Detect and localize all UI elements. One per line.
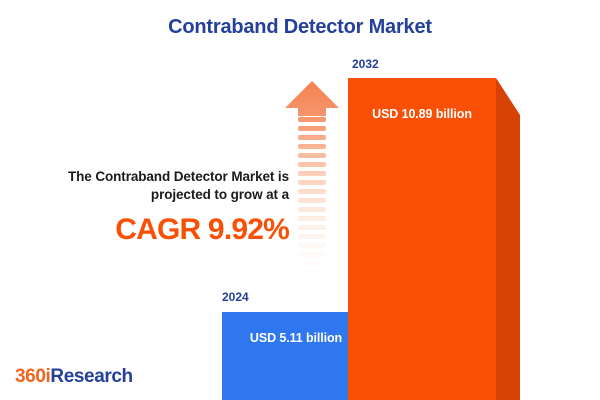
logo-mark: 360i [15, 366, 50, 387]
bar-2032-side-face [496, 78, 520, 400]
bar-2032-year-label: 2032 [352, 57, 379, 71]
page-title: Contraband Detector Market [0, 16, 600, 39]
statement-line-1: The Contraband Detector Market is [14, 168, 289, 186]
up-arrow-icon [284, 80, 340, 292]
brand-logo[interactable]: 360iResearch [15, 366, 133, 388]
cagr-value: CAGR 9.92% [14, 213, 289, 247]
infographic-canvas: Contraband Detector Market The Contraban… [0, 0, 600, 400]
statement-block: The Contraband Detector Market is projec… [14, 168, 289, 247]
logo-name: Research [50, 366, 132, 387]
bar-2032-value-label: USD 10.89 billion [348, 78, 496, 150]
bar-2024-year-label: 2024 [222, 290, 249, 304]
bar-2032: 2032 USD 10.89 billion [348, 57, 520, 400]
statement-line-2: projected to grow at a [14, 186, 289, 204]
